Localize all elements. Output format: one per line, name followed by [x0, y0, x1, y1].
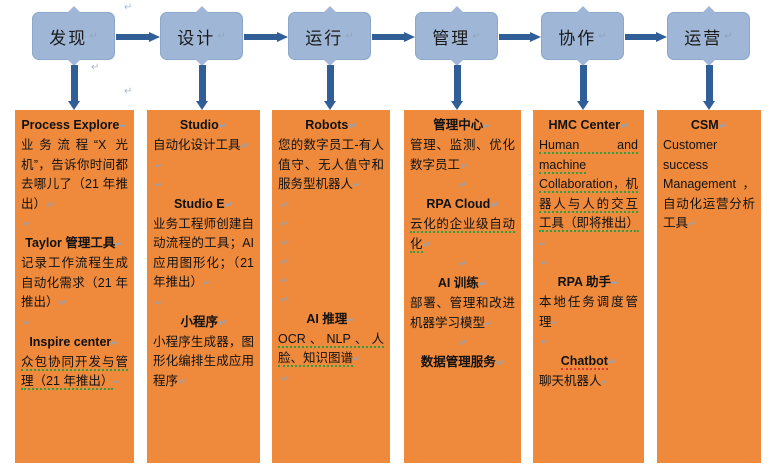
column-operate: CSM↵ Customer success Management，自动化运营分析…	[657, 110, 761, 463]
block-csm: CSM↵ Customer success Management，自动化运营分析…	[663, 116, 755, 235]
stage-label: 设计	[177, 24, 215, 49]
stage-box-run[interactable]: 运行 ↵	[288, 12, 371, 60]
block-heading: AI 训练↵	[410, 274, 515, 294]
pilcrow-mark: ↵	[217, 31, 225, 42]
block-rpa-cloud: RPA Cloud↵ 云化的企业级自动化↵	[410, 195, 515, 255]
arrow-down-design	[196, 65, 208, 110]
pilcrow-mark: ↵	[21, 215, 128, 234]
stage-label: 运行	[305, 24, 343, 49]
block-heading: 数据管理服务↵	[410, 353, 515, 373]
block-heading: Taylor 管理工具↵	[21, 234, 128, 254]
block-heading: RPA 助手↵	[539, 273, 638, 293]
block-body: 业务流程“X 光机”，告诉你时间都去哪儿了（21 年推出）↵	[21, 136, 128, 215]
pilcrow-mark: ↵	[598, 31, 606, 42]
block-body: 业务工程师创建自动流程的工具；AI 应用图形化；（21 年推出）↵	[153, 215, 254, 294]
block-heading: Chatbot↵	[539, 352, 638, 372]
block-body: 众包协同开发与管理（21 年推出）↵	[21, 353, 128, 393]
column-design: Studio↵ 自动化设计工具↵ ↵ ↵ Studio E↵ 业务工程师创建自动…	[147, 110, 260, 463]
block-ai-training: AI 训练↵ 部署、管理和改进机器学习模型↵	[410, 274, 515, 334]
pilcrow-mark: ↵	[410, 255, 515, 274]
pilcrow-mark: ↵	[539, 333, 638, 352]
block-heading: Process Explore↵	[21, 116, 128, 136]
block-inspire-center: Inspire center↵ 众包协同开发与管理（21 年推出）↵	[21, 333, 128, 393]
stage-box-manage[interactable]: 管理 ↵	[415, 12, 498, 60]
pilcrow-mark: ↵	[89, 31, 97, 42]
stage-box-collaborate[interactable]: 协作 ↵	[541, 12, 624, 60]
arrow-manage-to-collaborate	[499, 32, 541, 41]
diagram-canvas: ↵ ↵ ↵ 发现 ↵ 设计 ↵ 运行 ↵ 管理 ↵ 协作 ↵ 运营 ↵	[0, 0, 770, 467]
block-heading: Studio E↵	[153, 195, 254, 215]
block-body: 小程序生成器，图形化编排生成应用程序↵	[153, 333, 254, 393]
pilcrow-mark: ↵	[153, 294, 254, 313]
pilcrow-mark: ↵	[278, 272, 384, 291]
arrow-run-to-manage	[372, 32, 415, 41]
column-run: Robots↵ 您的数字员工-有人值守、无人值守和服务型机器人↵ ↵ ↵ ↵ ↵…	[272, 110, 390, 463]
column-discover: Process Explore↵ 业务流程“X 光机”，告诉你时间都去哪儿了（2…	[15, 110, 134, 463]
block-studio: Studio↵ 自动化设计工具↵	[153, 116, 254, 157]
block-heading: 管理中心↵	[410, 116, 515, 136]
block-body: 云化的企业级自动化↵	[410, 215, 515, 255]
block-heading: Inspire center↵	[21, 333, 128, 353]
block-heading: RPA Cloud↵	[410, 195, 515, 215]
arrow-down-manage	[451, 65, 463, 110]
pilcrow-mark: ↵	[539, 254, 638, 273]
arrow-down-collaborate	[577, 65, 589, 110]
arrow-discover-to-design	[116, 32, 160, 41]
pilcrow-mark: ↵	[21, 314, 128, 333]
arrow-down-run	[324, 65, 336, 110]
pilcrow-mark: ↵	[153, 157, 254, 176]
pilcrow-mark: ↵	[278, 370, 384, 389]
block-body: 您的数字员工-有人值守、无人值守和服务型机器人↵	[278, 136, 384, 196]
column-collaborate: HMC Center↵ Human and machine Collaborat…	[533, 110, 644, 463]
pilcrow-mark: ↵	[278, 253, 384, 272]
block-rpa-assistant: RPA 助手↵ 本地任务调度管理↵	[539, 273, 638, 333]
block-heading: AI 推理↵	[278, 310, 384, 330]
arrow-collaborate-to-operate	[625, 32, 667, 41]
block-heading: 小程序↵	[153, 313, 254, 333]
column-manage: 管理中心↵ 管理、监测、优化数字员工↵ ↵ RPA Cloud↵ 云化的企业级自…	[404, 110, 521, 463]
block-body: 管理、监测、优化数字员工↵	[410, 136, 515, 176]
stage-box-discover[interactable]: 发现 ↵	[32, 12, 115, 60]
stage-label: 协作	[558, 24, 596, 49]
pilcrow-mark: ↵	[124, 86, 132, 97]
arrow-down-discover	[68, 65, 80, 110]
arrow-down-operate	[703, 65, 715, 110]
pilcrow-mark: ↵	[410, 334, 515, 353]
block-taylor: Taylor 管理工具↵ 记录工作流程生成自动化需求（21 年推出）↵	[21, 234, 128, 314]
block-body: 本地任务调度管理↵	[539, 293, 638, 333]
block-body: 部署、管理和改进机器学习模型↵	[410, 294, 515, 334]
block-heading: HMC Center↵	[539, 116, 638, 136]
stage-label: 管理	[432, 24, 470, 49]
block-body: 记录工作流程生成自动化需求（21 年推出）↵	[21, 254, 128, 314]
block-body: 聊天机器人↵	[539, 372, 638, 393]
pilcrow-mark: ↵	[472, 31, 480, 42]
stage-label: 发现	[49, 24, 87, 49]
pilcrow-mark: ↵	[410, 176, 515, 195]
stage-box-design[interactable]: 设计 ↵	[160, 12, 243, 60]
block-heading: Robots↵	[278, 116, 384, 136]
block-body: 自动化设计工具↵	[153, 136, 254, 157]
block-body: Human and machine Collaboration，机器人与人的交互…	[539, 136, 638, 254]
block-hmc-center: HMC Center↵ Human and machine Collaborat…	[539, 116, 638, 254]
stage-box-operate[interactable]: 运营 ↵	[667, 12, 750, 60]
stage-label: 运营	[684, 24, 722, 49]
block-body: Customer success Management，自动化运营分析工具↵	[663, 136, 755, 235]
block-management-center: 管理中心↵ 管理、监测、优化数字员工↵	[410, 116, 515, 176]
block-robots: Robots↵ 您的数字员工-有人值守、无人值守和服务型机器人↵	[278, 116, 384, 196]
block-chatbot: Chatbot↵ 聊天机器人↵	[539, 352, 638, 393]
block-studio-e: Studio E↵ 业务工程师创建自动流程的工具；AI 应用图形化；（21 年推…	[153, 195, 254, 294]
pilcrow-mark: ↵	[91, 62, 99, 73]
pilcrow-mark: ↵	[153, 176, 254, 195]
block-ai-inference: AI 推理↵ OCR、NLP、人脸、知识图谱↵	[278, 310, 384, 370]
pilcrow-mark: ↵	[278, 291, 384, 310]
block-process-explore: Process Explore↵ 业务流程“X 光机”，告诉你时间都去哪儿了（2…	[21, 116, 128, 215]
arrow-design-to-run	[244, 32, 288, 41]
pilcrow-mark: ↵	[724, 31, 732, 42]
block-data-management-service: 数据管理服务↵	[410, 353, 515, 373]
block-heading: Studio↵	[153, 116, 254, 136]
block-heading: CSM↵	[663, 116, 755, 136]
pilcrow-mark: ↵	[124, 2, 132, 13]
block-body: OCR、NLP、人脸、知识图谱↵	[278, 330, 384, 370]
pilcrow-mark: ↵	[278, 215, 384, 234]
pilcrow-mark: ↵	[278, 234, 384, 253]
pilcrow-mark: ↵	[278, 196, 384, 215]
pilcrow-mark: ↵	[345, 31, 353, 42]
block-mini-program: 小程序↵ 小程序生成器，图形化编排生成应用程序↵	[153, 313, 254, 393]
